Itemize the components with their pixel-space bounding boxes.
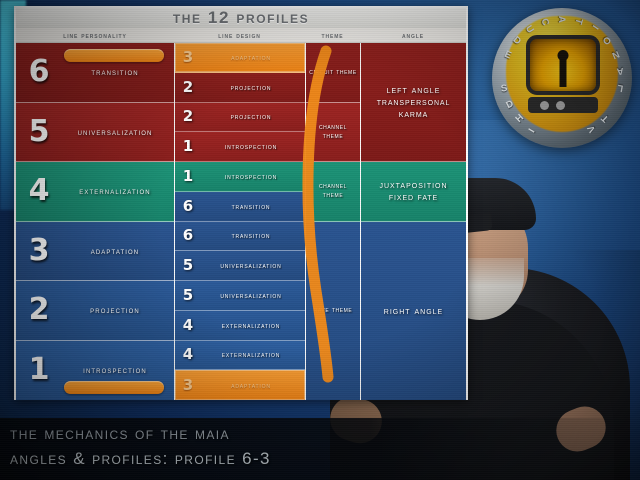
vignette-overlay	[0, 0, 640, 480]
video-frame: The 12 Profiles Line Personality Line De…	[0, 0, 640, 480]
